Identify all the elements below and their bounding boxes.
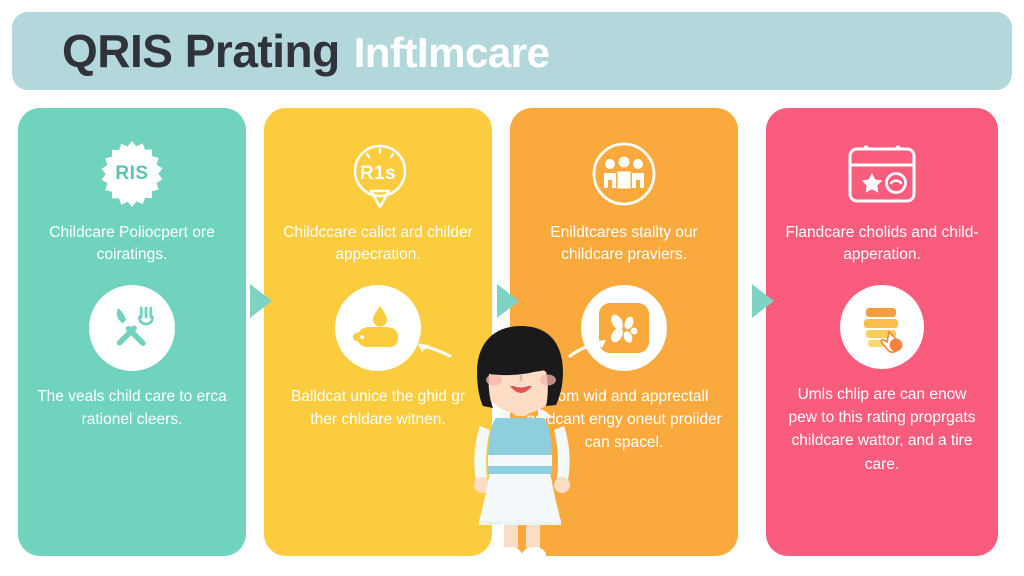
card-4-bottom-text: Umls chlip are can enow pew to this rati… [784, 383, 980, 476]
card-childcare-policy[interactable]: RIS Childcare Poliocpert ore coiratings. [18, 108, 246, 556]
cartoon-girl-illustration [446, 322, 594, 568]
card-3-top-text: Enildtcares stallty our childcare pravie… [526, 222, 722, 267]
speech-bubble-badge-icon: R1s [343, 139, 413, 209]
page-title-primary: QRIS Prating [62, 24, 340, 78]
card-1-bottom-text: The veals child care to erca rationel cl… [34, 385, 230, 432]
header-bar: QRIS Prating InftImcare [12, 12, 1012, 90]
star-card-icon [842, 139, 922, 209]
card-2-badge: R1s [343, 132, 413, 216]
card-2-top-text: Childccare calict ard childer appecratio… [280, 222, 476, 267]
card-1-badge-label: RIS [115, 163, 148, 185]
card-1-badge: RIS [97, 132, 167, 216]
connector-1-2 [250, 284, 272, 318]
page-title: QRIS Prating InftImcare [62, 24, 549, 78]
animal-droplet-icon [350, 302, 406, 354]
card-4-top-text: Flandcare cholids and child-apperation. [782, 222, 982, 267]
stacked-books-hand-icon [854, 300, 910, 354]
card-2-icon-disc [335, 285, 421, 371]
card-childcare-rating[interactable]: Flandcare cholids and child-apperation. … [766, 108, 998, 556]
connector-3-4 [752, 284, 774, 318]
infographic-page: QRIS Prating InftImcare RIS Childcare Po… [0, 0, 1024, 576]
crossed-tools-icon [106, 302, 158, 354]
connector-2-3 [497, 284, 519, 318]
card-1-top-text: Childcare Poliocpert ore coiratings. [34, 222, 230, 267]
page-title-secondary: InftImcare [354, 29, 550, 77]
card-1-icon-disc [89, 285, 175, 371]
three-people-circle-icon [586, 136, 662, 212]
card-3-badge [586, 132, 662, 216]
card-4-icon-disc [840, 285, 924, 369]
card-4-badge [842, 132, 922, 216]
starburst-badge-icon: RIS [97, 139, 167, 209]
card-2-badge-label: R1s [360, 163, 396, 185]
